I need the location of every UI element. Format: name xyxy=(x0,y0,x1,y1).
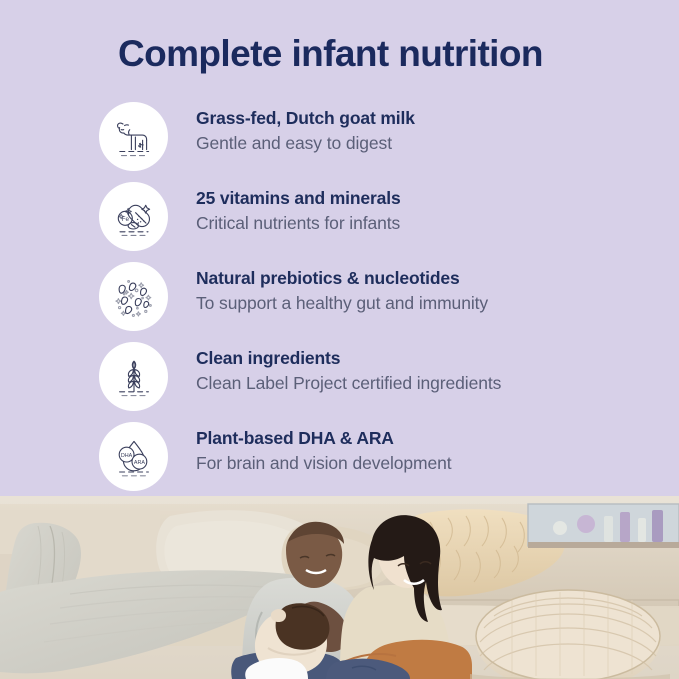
feature-title: Natural prebiotics & nucleotides xyxy=(196,266,488,291)
photo-illustration xyxy=(0,496,679,679)
feature-subtitle: Clean Label Project certified ingredient… xyxy=(196,371,501,396)
features-panel: Complete infant nutrition xyxy=(0,0,679,496)
lifestyle-photo xyxy=(0,496,679,679)
product-feature-card: Complete infant nutrition xyxy=(0,0,679,679)
feature-text: Clean ingredients Clean Label Project ce… xyxy=(196,346,501,396)
feature-subtitle: Critical nutrients for infants xyxy=(196,211,401,236)
dha-ara-droplet-icon: DHA ARA xyxy=(99,422,168,491)
vitamin-capsule-iron-icon: Fe xyxy=(99,182,168,251)
dha-label: DHA xyxy=(120,452,132,458)
feature-subtitle: Gentle and easy to digest xyxy=(196,131,415,156)
feature-title: Plant-based DHA & ARA xyxy=(196,426,452,451)
list-item: Clean ingredients Clean Label Project ce… xyxy=(0,338,679,418)
feature-title: Clean ingredients xyxy=(196,346,501,371)
list-item: Natural prebiotics & nucleotides To supp… xyxy=(0,258,679,338)
feature-text: 25 vitamins and minerals Critical nutrie… xyxy=(196,186,401,236)
goat-icon xyxy=(99,102,168,171)
feature-title: 25 vitamins and minerals xyxy=(196,186,401,211)
feature-text: Plant-based DHA & ARA For brain and visi… xyxy=(196,426,452,476)
list-item: DHA ARA Plant-based DHA & ARA For brain … xyxy=(0,418,679,498)
feature-subtitle: To support a healthy gut and immunity xyxy=(196,291,488,316)
list-item: Fe 25 vitamins and minerals Critical nut… xyxy=(0,178,679,258)
page-title: Complete infant nutrition xyxy=(118,33,543,75)
ara-label: ARA xyxy=(133,459,144,465)
probiotic-bacteria-icon xyxy=(99,262,168,331)
wheat-stalk-icon xyxy=(99,342,168,411)
feature-list: Grass-fed, Dutch goat milk Gentle and ea… xyxy=(0,98,679,498)
feature-text: Natural prebiotics & nucleotides To supp… xyxy=(196,266,488,316)
feature-subtitle: For brain and vision development xyxy=(196,451,452,476)
list-item: Grass-fed, Dutch goat milk Gentle and ea… xyxy=(0,98,679,178)
feature-title: Grass-fed, Dutch goat milk xyxy=(196,106,415,131)
feature-text: Grass-fed, Dutch goat milk Gentle and ea… xyxy=(196,106,415,156)
